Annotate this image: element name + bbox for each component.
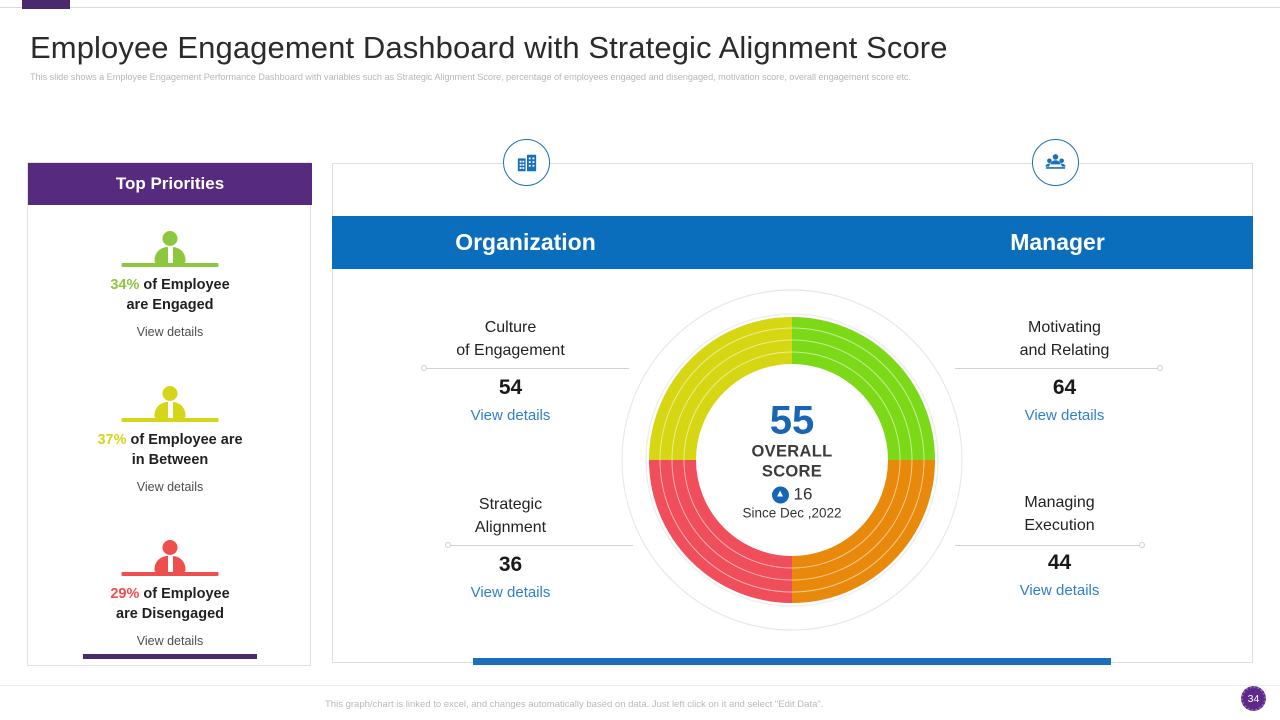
callout-motivating-and-relating[interactable]: Motivating and Relating 64 View details (957, 317, 1172, 426)
callout-value: 64 (957, 376, 1172, 400)
callout-value: 44 (952, 551, 1167, 575)
score-delta-value: 16 (794, 485, 813, 505)
priority-item-engaged[interactable]: 34% of Employee are Engaged View details (28, 225, 312, 339)
priority-label: of Employee are (126, 432, 242, 448)
priority-text: 29% of Employee are Disengaged (28, 584, 312, 624)
priority-label: of Employee (139, 277, 229, 293)
top-priorities-card: Top Priorities 34% of Employee are Engag… (27, 162, 311, 666)
callout-title-line2: Execution (1024, 517, 1094, 534)
priority-percent: 37% (97, 432, 126, 448)
callout-title: Managing Execution (952, 492, 1167, 537)
page-number-badge: 34 (1241, 686, 1266, 711)
priority-text: 37% of Employee are in Between (28, 430, 312, 470)
callout-title-line2: and Relating (1020, 342, 1110, 359)
building-icon (503, 139, 550, 186)
callout-title-line1: Strategic (479, 496, 542, 513)
top-divider (0, 7, 1280, 8)
person-icon (28, 534, 312, 576)
engagement-donut-chart[interactable]: 55 OVERALL SCORE ▲ 16 Since Dec ,2022 (620, 288, 964, 632)
footer-note: This graph/chart is linked to excel, and… (325, 699, 823, 710)
priority-label: of Employee (139, 586, 229, 602)
callout-title: Culture of Engagement (403, 317, 618, 362)
priority-item-disengaged[interactable]: 29% of Employee are Disengaged View deta… (28, 534, 312, 648)
callout-title-line1: Managing (1024, 494, 1094, 511)
panel-bottom-accent (473, 658, 1111, 665)
callout-title-line2: Alignment (475, 519, 546, 536)
person-icon (28, 380, 312, 422)
view-details-link[interactable]: View details (28, 325, 312, 339)
callout-title: Strategic Alignment (403, 494, 618, 539)
callout-title-line1: Motivating (1028, 319, 1101, 336)
callout-title: Motivating and Relating (957, 317, 1172, 362)
overall-score-label-1: OVERALL (692, 442, 892, 462)
view-details-link[interactable]: View details (952, 581, 1167, 601)
people-group-icon (1032, 139, 1079, 186)
footer-divider (0, 685, 1280, 686)
view-details-link[interactable]: View details (28, 634, 312, 648)
view-details-link[interactable]: View details (28, 480, 312, 494)
slide-root: Employee Engagement Dashboard with Strat… (0, 0, 1280, 720)
callout-managing-execution[interactable]: Managing Execution 44 View details (952, 492, 1167, 601)
view-details-link[interactable]: View details (403, 583, 618, 603)
arrow-up-icon: ▲ (772, 486, 789, 503)
top-priorities-heading: Top Priorities (28, 163, 312, 205)
callout-value: 36 (403, 553, 618, 577)
segment-manager-label[interactable]: Manager (862, 216, 1253, 269)
score-since-label: Since Dec ,2022 (692, 506, 892, 521)
overall-score-label-2: SCORE (692, 462, 892, 482)
callout-title-line1: Culture (485, 319, 537, 336)
priority-label-2: in Between (132, 452, 209, 468)
callout-value: 54 (403, 376, 618, 400)
segment-organization-label[interactable]: Organization (332, 216, 719, 269)
priority-item-in-between[interactable]: 37% of Employee are in Between View deta… (28, 380, 312, 494)
score-delta-row: ▲ 16 (692, 485, 892, 505)
top-accent-tab (22, 0, 70, 9)
callout-title-line2: of Engagement (456, 342, 565, 359)
person-icon (28, 225, 312, 267)
priority-percent: 29% (110, 586, 139, 602)
priority-text: 34% of Employee are Engaged (28, 275, 312, 315)
card-bottom-accent (83, 654, 257, 659)
overall-score-value: 55 (692, 400, 892, 442)
callout-strategic-alignment[interactable]: Strategic Alignment 36 View details (403, 494, 618, 603)
view-details-link[interactable]: View details (957, 406, 1172, 426)
page-title: Employee Engagement Dashboard with Strat… (30, 30, 948, 66)
callout-culture-of-engagement[interactable]: Culture of Engagement 54 View details (403, 317, 618, 426)
page-subtitle: This slide shows a Employee Engagement P… (30, 72, 911, 82)
priority-percent: 34% (110, 277, 139, 293)
view-details-link[interactable]: View details (403, 406, 618, 426)
overall-score-block: 55 OVERALL SCORE ▲ 16 Since Dec ,2022 (692, 400, 892, 521)
priority-label-2: are Engaged (126, 297, 213, 313)
priority-label-2: are Disengaged (116, 606, 224, 622)
